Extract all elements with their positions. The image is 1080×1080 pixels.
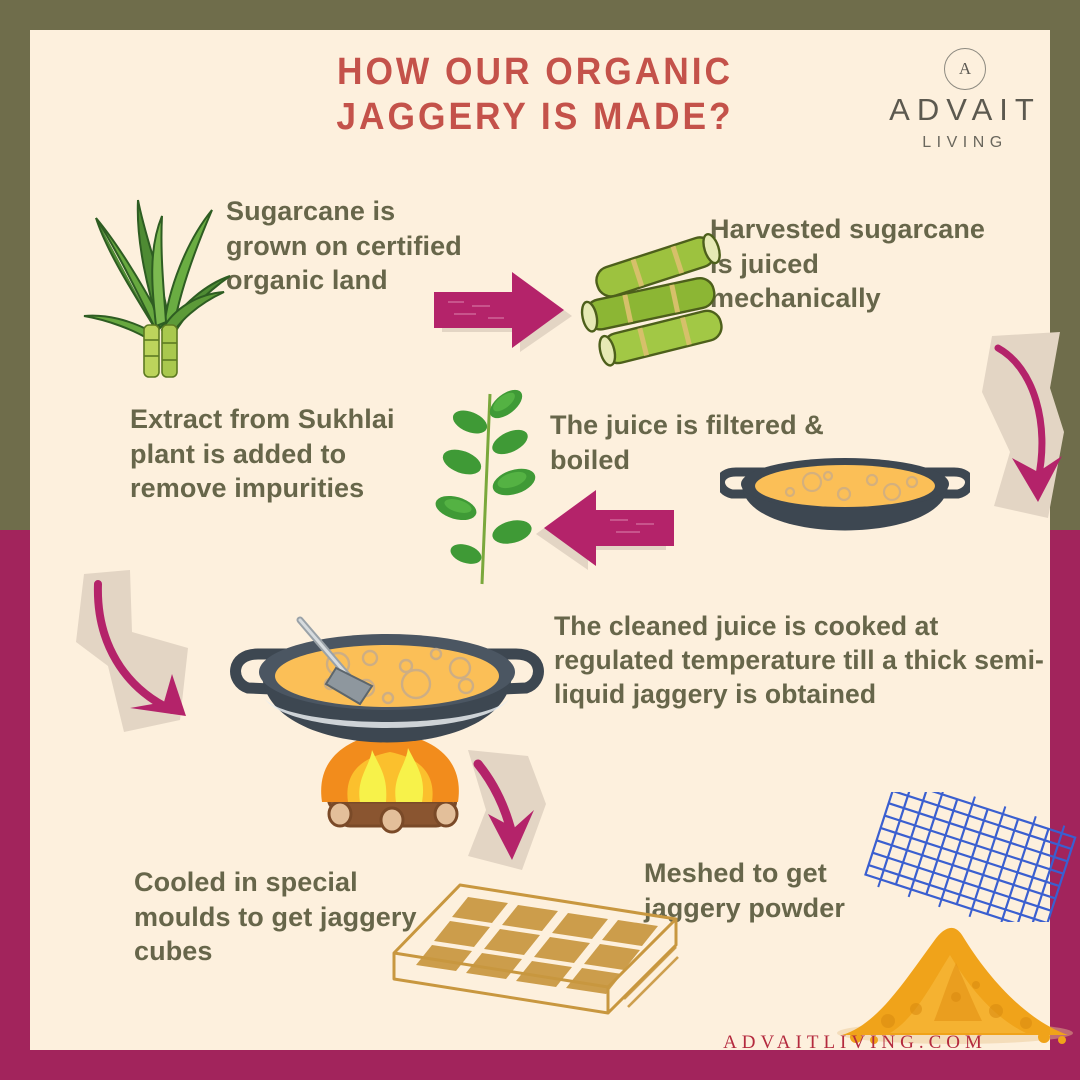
sukhlai-sprig-icon — [420, 386, 540, 586]
infographic-poster: HOW OUR ORGANIC JAGGERY IS MADE? A ADVAI… — [0, 0, 1080, 1080]
logo-brand-name: ADVAIT — [880, 94, 1050, 125]
logo-circle-a-icon: A — [944, 48, 986, 90]
arrow-curved-down-to-pan-icon — [968, 330, 1080, 525]
step-label-cooked: The cleaned juice is cooked at regulated… — [554, 610, 1044, 712]
mould-tray-icon — [390, 875, 680, 1015]
poster-canvas: HOW OUR ORGANIC JAGGERY IS MADE? A ADVAI… — [30, 30, 1050, 1050]
step-label-sukhlai: Extract from Sukhlai plant is added to r… — [130, 402, 450, 506]
step-label-juiced: Harvested sugarcane is juiced mechanical… — [710, 212, 990, 316]
logo-brand-tagline: LIVING — [880, 134, 1050, 152]
sugarcane-plant-icon — [78, 180, 238, 380]
arrow-curved-down-to-mould-icon — [450, 748, 565, 878]
mesh-screen-icon — [860, 792, 1080, 922]
brand-logo: A ADVAIT LIVING — [880, 48, 1050, 152]
page-title: HOW OUR ORGANIC JAGGERY IS MADE? — [275, 50, 796, 140]
arrow-right-plant-to-cane-icon — [428, 262, 578, 362]
website-url: ADVAITLIVING.COM — [670, 1032, 1040, 1054]
flat-pan-icon — [720, 450, 970, 580]
arrow-left-pan-to-sukhlai-icon — [530, 480, 680, 580]
cane-bundle-icon — [578, 225, 738, 375]
arrow-curved-down-to-pot-icon — [68, 570, 223, 735]
jaggery-powder-icon — [830, 915, 1080, 1045]
